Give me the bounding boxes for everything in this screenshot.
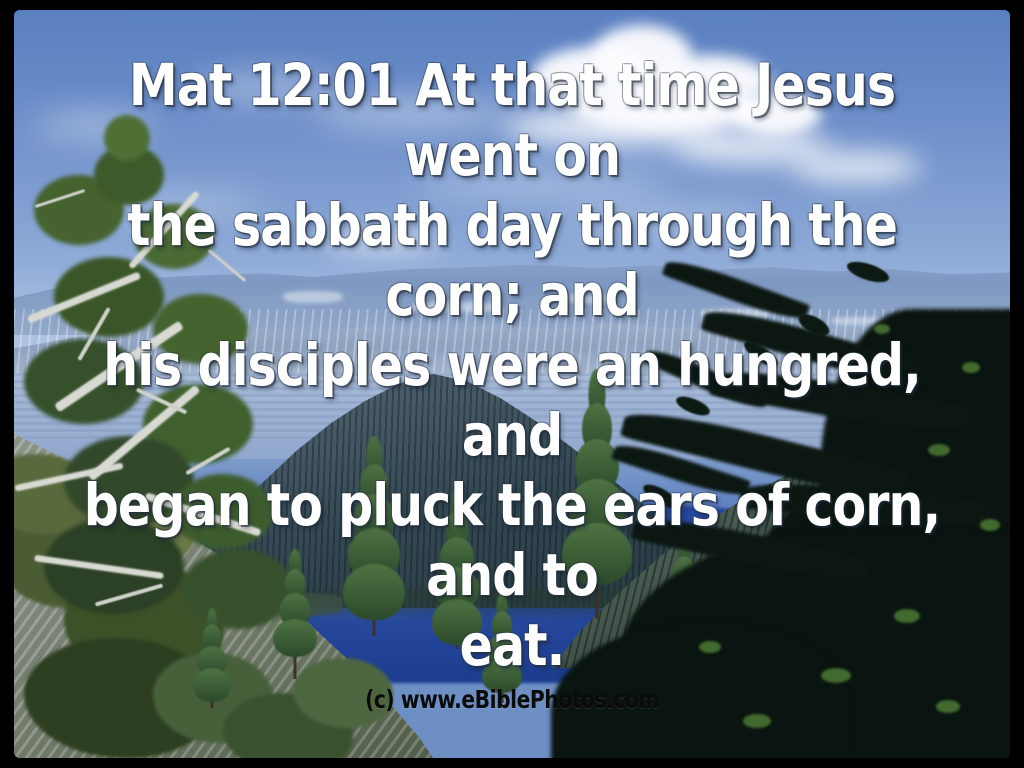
verse-line-5: eat. <box>70 610 954 680</box>
bible-verse-overlay: Mat 12:01 At that time Jesus went on the… <box>44 10 980 680</box>
crater-lake-photograph: Mat 12:01 At that time Jesus went on the… <box>14 10 1010 758</box>
verse-line-3: his disciples were an hungred, and <box>70 330 954 470</box>
verse-line-2: the sabbath day through the corn; and <box>70 190 954 330</box>
verse-line-4: began to pluck the ears of corn, and to <box>70 470 954 610</box>
watermark-credit: (c) www.eBiblePhotos.com <box>64 685 960 714</box>
bordered-photo-frame: Mat 12:01 At that time Jesus went on the… <box>0 0 1024 768</box>
verse-line-1: Mat 12:01 At that time Jesus went on <box>70 50 954 190</box>
